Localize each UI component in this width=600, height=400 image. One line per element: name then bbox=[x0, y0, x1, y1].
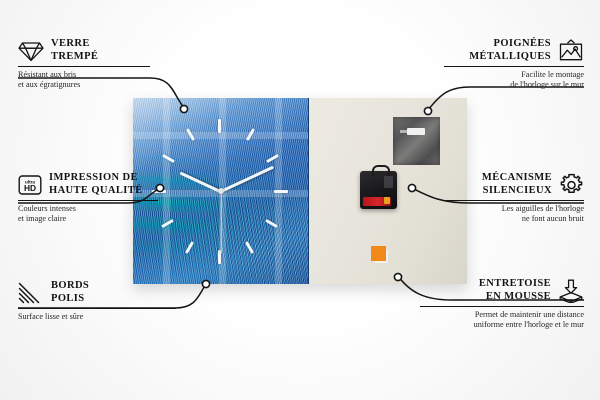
feature-desc-line1: Surface lisse et sûre bbox=[18, 312, 176, 322]
feature-title-line1: BORDS bbox=[51, 280, 89, 293]
mechanism-dial-detail bbox=[384, 176, 393, 188]
foam-spacer bbox=[371, 246, 386, 261]
battery bbox=[363, 197, 391, 206]
feature-divider bbox=[444, 200, 584, 201]
feature-title-line1: POIGNÉES bbox=[469, 38, 551, 51]
metal-hanger-plate bbox=[393, 117, 440, 165]
feature-divider bbox=[18, 200, 158, 201]
diamond-icon bbox=[18, 40, 44, 62]
feature-divider bbox=[18, 66, 150, 67]
feature-divider bbox=[18, 308, 176, 309]
feature-divider bbox=[444, 66, 584, 67]
feature-desc-line1: Couleurs intenses bbox=[18, 204, 158, 214]
clock-front-view bbox=[133, 98, 309, 284]
clock-mechanism bbox=[360, 171, 397, 209]
feature-verre-trempe[interactable]: VERRE TREMPÉ Résistant aux bris et aux é… bbox=[18, 38, 150, 90]
feature-title-line2: HAUTE QUALITÉ bbox=[49, 185, 143, 198]
svg-text:HD: HD bbox=[24, 183, 36, 193]
feature-mecanisme-silencieux[interactable]: MÉCANISME SILENCIEUX Les aiguilles de l'… bbox=[444, 172, 584, 224]
glass-grid-line bbox=[133, 132, 308, 139]
ultra-hd-icon: ultra HD bbox=[18, 174, 42, 196]
feature-desc-line2: ne font aucun bruit bbox=[444, 214, 584, 224]
feature-divider bbox=[420, 306, 584, 307]
clock-second-hand bbox=[220, 192, 221, 254]
feature-desc-line2: uniforme entre l'horloge et le mur bbox=[420, 320, 584, 330]
feature-impression-haute-qualite[interactable]: ultra HD IMPRESSION DE HAUTE QUALITÉ Cou… bbox=[18, 172, 158, 224]
feature-desc-line2: de l'horloge sur le mur bbox=[444, 80, 584, 90]
feature-title-line2: SILENCIEUX bbox=[482, 185, 552, 198]
feature-desc-line1: Les aiguilles de l'horloge bbox=[444, 204, 584, 214]
feature-poignees-metalliques[interactable]: POIGNÉES MÉTALLIQUES Facilite le montage… bbox=[444, 38, 584, 90]
hanging-frame-icon bbox=[558, 39, 584, 62]
infographic-canvas: VERRE TREMPÉ Résistant aux bris et aux é… bbox=[0, 0, 600, 400]
polished-edge-icon bbox=[18, 282, 44, 304]
feature-title-line2: EN MOUSSE bbox=[479, 291, 551, 304]
feature-title-line1: ENTRETOISE bbox=[479, 278, 551, 291]
clock-tick bbox=[218, 119, 221, 133]
feature-desc-line1: Facilite le montage bbox=[444, 70, 584, 80]
feature-bords-polis[interactable]: BORDS POLIS Surface lisse et sûre bbox=[18, 280, 176, 322]
clock-tick bbox=[274, 190, 288, 193]
hanger-slot bbox=[407, 128, 425, 135]
clock-center-cap bbox=[218, 188, 224, 194]
mechanism-hanging-loop bbox=[372, 165, 390, 176]
feature-title-line1: VERRE bbox=[51, 38, 98, 51]
feature-desc-line1: Résistant aux bris bbox=[18, 70, 150, 80]
feature-entretoise-en-mousse[interactable]: ENTRETOISE EN MOUSSE Permet de maintenir… bbox=[420, 278, 584, 330]
feature-title-line1: MÉCANISME bbox=[482, 172, 552, 185]
feature-desc-line2: et image claire bbox=[18, 214, 158, 224]
feature-desc-line1: Permet de maintenir une distance bbox=[420, 310, 584, 320]
product-image bbox=[133, 98, 467, 284]
feature-title-line2: POLIS bbox=[51, 293, 89, 306]
feature-title-line2: MÉTALLIQUES bbox=[469, 51, 551, 64]
feature-desc-line2: et aux égratignures bbox=[18, 80, 150, 90]
feature-title-line2: TREMPÉ bbox=[51, 51, 98, 64]
battery-terminal bbox=[384, 197, 390, 204]
foam-spacer-icon bbox=[558, 279, 584, 303]
feature-title-line1: IMPRESSION DE bbox=[49, 172, 143, 185]
gear-icon bbox=[559, 173, 584, 197]
